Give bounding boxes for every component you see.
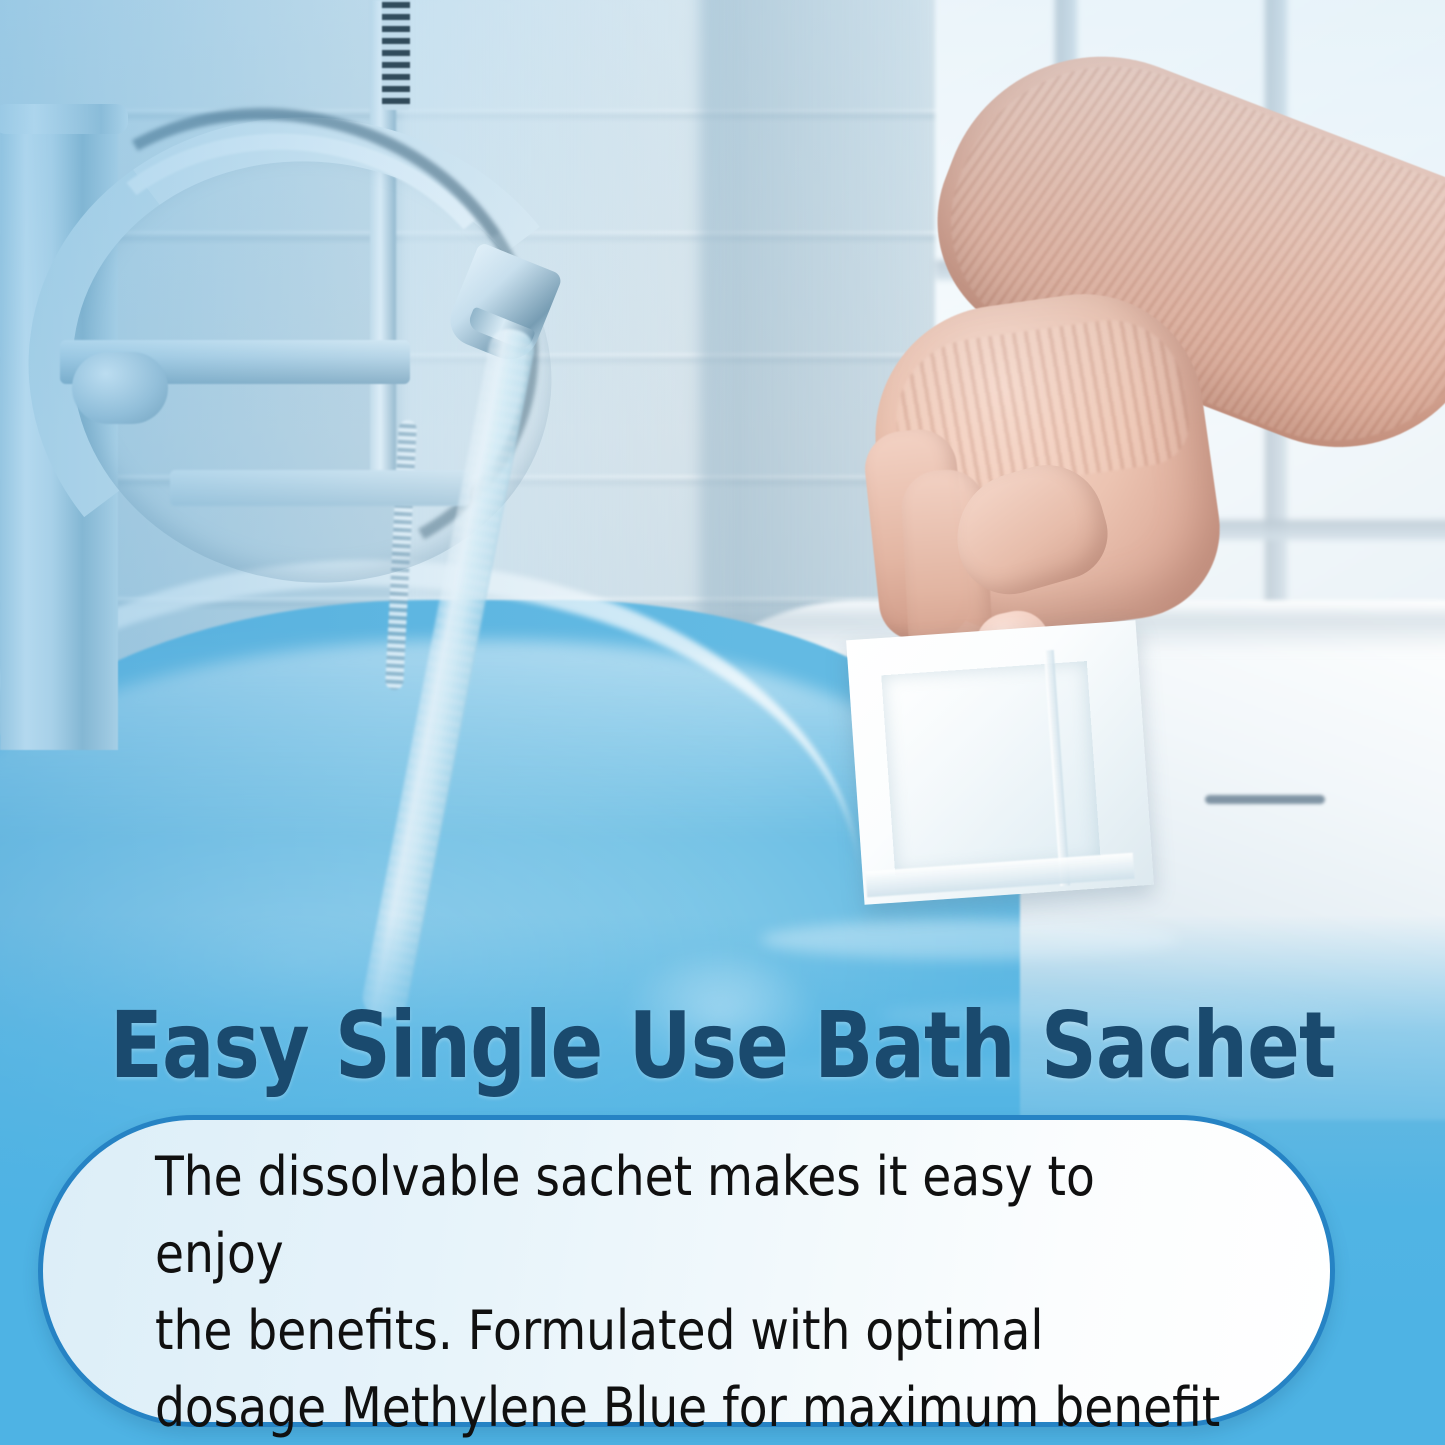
description-line: the benefits. Formulated with optimal (155, 1292, 1237, 1369)
bathtub-overflow-drain (1205, 795, 1325, 804)
faucet-knob (72, 352, 168, 424)
description-text: The dissolvable sachet makes it easy to … (155, 1138, 1237, 1445)
description-line: dosage Methylene Blue for maximum benefi… (155, 1369, 1237, 1445)
description-card: The dissolvable sachet makes it easy to … (38, 1115, 1335, 1427)
ad-creative-canvas: Easy Single Use Bath Sachet The dissolva… (0, 0, 1445, 1445)
description-line: The dissolvable sachet makes it easy to … (155, 1138, 1237, 1292)
bath-sachet-inner-panel (881, 661, 1100, 875)
faucet-lower-bar (170, 470, 470, 506)
page-title: Easy Single Use Bath Sachet (43, 1000, 1401, 1092)
faucet-column-cap (0, 104, 128, 134)
water-ripple (760, 920, 1180, 960)
hand-shower-head (382, 0, 410, 110)
